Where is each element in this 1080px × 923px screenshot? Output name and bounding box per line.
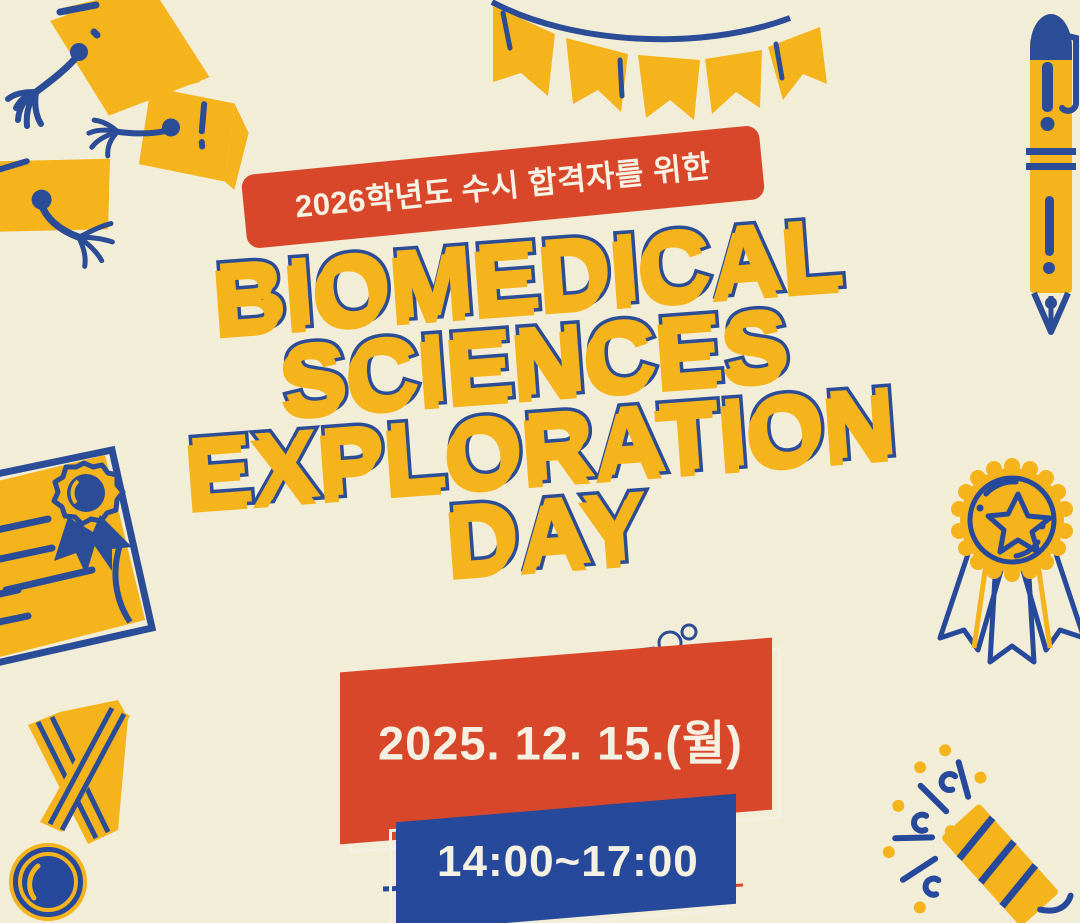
event-details: 2025. 12. 15.(월) 14:00~17:00 bbox=[0, 620, 1080, 923]
graduation-cap-icon bbox=[8, 0, 213, 126]
time-text: 14:00~17:00 bbox=[437, 837, 699, 887]
graduation-cap-icon bbox=[0, 142, 124, 270]
poster-canvas: 2026학년도 수시 합격자를 위한 BIOMEDICAL SCIENCES E… bbox=[0, 0, 1080, 923]
bunting-flags-icon bbox=[492, 2, 827, 120]
date-text: 2025. 12. 15.(월) bbox=[378, 704, 743, 773]
graduation-cap-icon bbox=[84, 57, 265, 204]
page-title: BIOMEDICAL SCIENCES EXPLORATION DAY bbox=[0, 189, 1080, 618]
